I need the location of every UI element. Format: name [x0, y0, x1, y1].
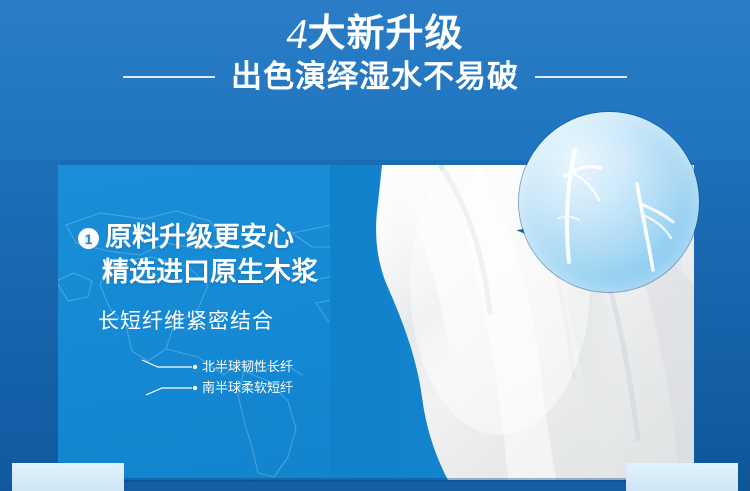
subtitle-row: 出色演绎湿水不易破 — [0, 60, 750, 94]
left-accent-band — [0, 160, 60, 491]
fiber-strands-icon — [519, 112, 699, 292]
page-title: 4大新升级 — [0, 14, 750, 56]
title-number: 4 — [286, 12, 307, 58]
callout-label-north: 北半球韧性长纤 — [202, 358, 293, 376]
feature-headline-2: 精选进口原生木浆 — [78, 257, 378, 289]
fiber-magnifier — [519, 112, 699, 292]
promo-banner: 4大新升级 出色演绎湿水不易破 — [0, 0, 750, 491]
bottom-plate-left — [12, 463, 124, 491]
callout-list: 北半球韧性长纤 南半球柔软短纤 — [140, 358, 380, 400]
callout-item-south: 南半球柔软短纤 — [140, 379, 380, 397]
feature-headline-3: 长短纤维紧密结合 — [78, 305, 378, 335]
feature-index-badge: 1 — [78, 228, 99, 249]
divider-right-icon — [535, 76, 627, 78]
title-text: 大新升级 — [307, 13, 463, 55]
feature-headline-1-text: 原料升级更安心 — [105, 222, 294, 254]
panel-shadow — [58, 478, 694, 482]
divider-left-icon — [123, 76, 215, 78]
callout-label-south: 南半球柔软短纤 — [202, 379, 293, 397]
feature-headline-1: 1 原料升级更安心 — [78, 222, 378, 254]
right-accent-band — [692, 160, 750, 491]
bottom-plate-right — [626, 463, 738, 491]
subtitle: 出色演绎湿水不易破 — [231, 60, 519, 94]
callout-item-north: 北半球韧性长纤 — [140, 358, 380, 376]
callout-leader-line-icon — [140, 379, 200, 397]
feature-copy: 1 原料升级更安心 精选进口原生木浆 长短纤维紧密结合 — [78, 222, 378, 335]
callout-leader-line-icon — [140, 358, 200, 376]
